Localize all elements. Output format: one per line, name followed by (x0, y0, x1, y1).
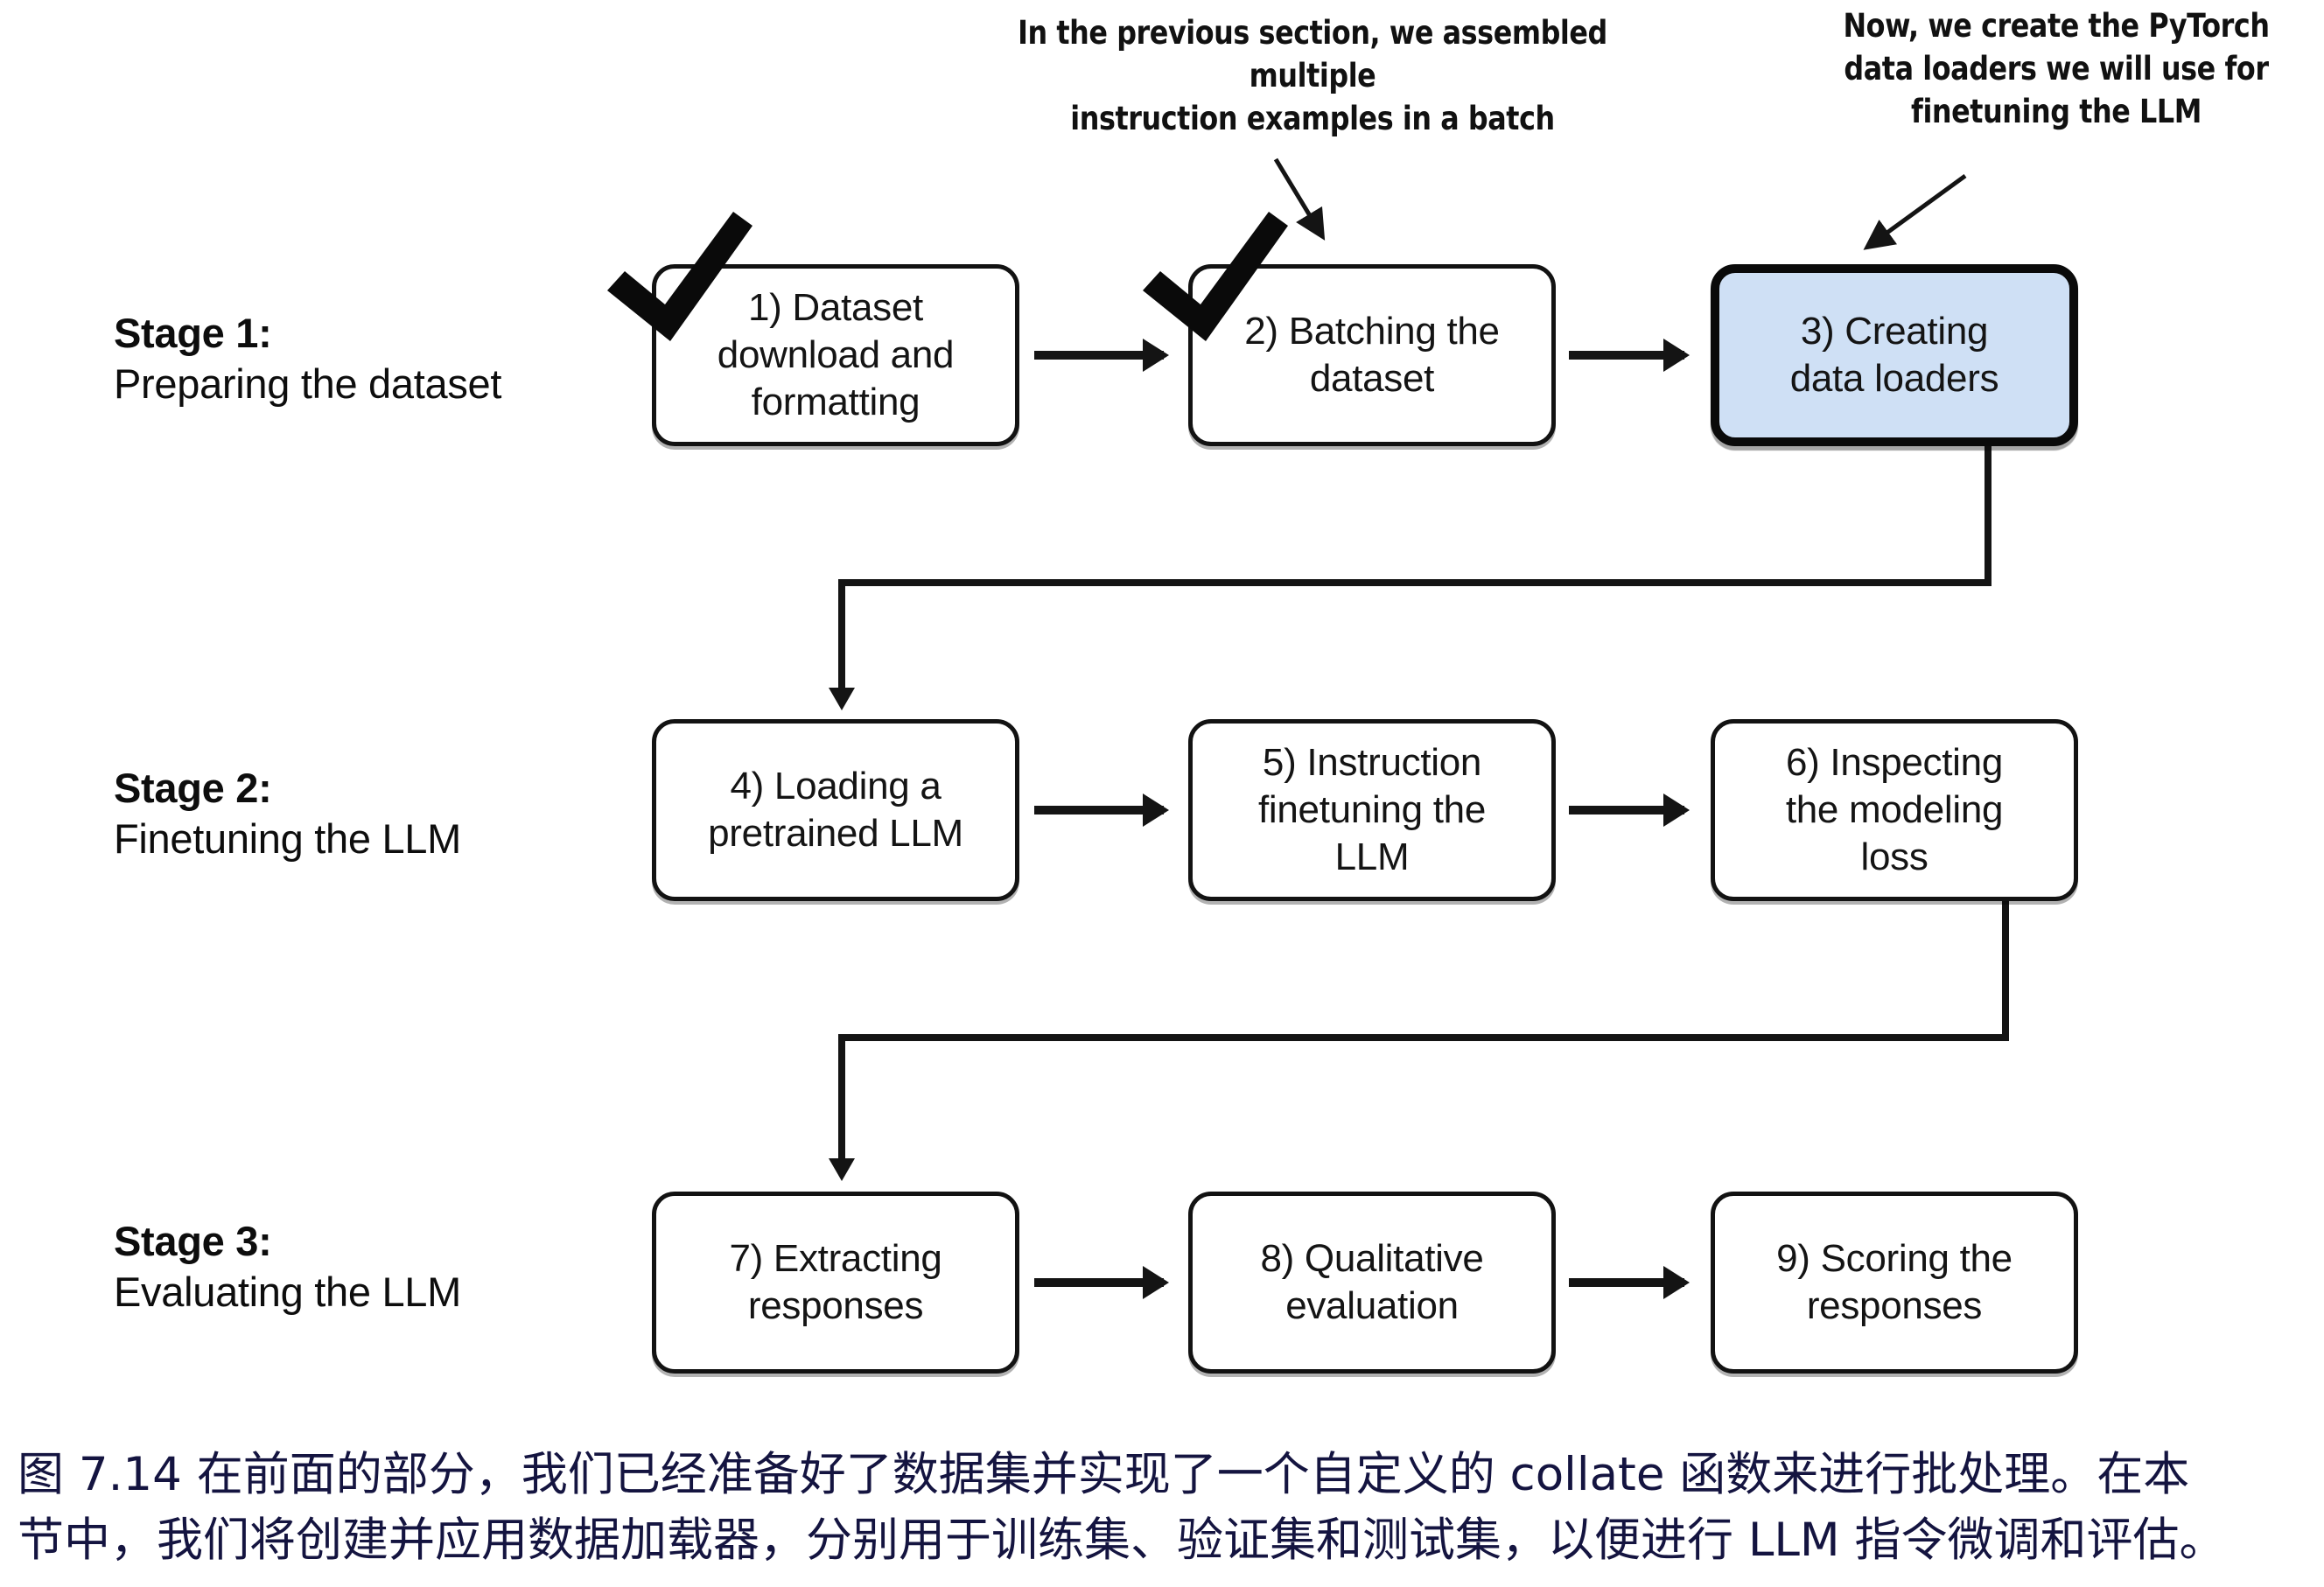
flow-box-5-line-1: 5) Instruction (1258, 739, 1486, 787)
figure-caption-line-2: 节中，我们将创建并应用数据加载器，分别用于训练集、验证集和测试集，以便进行 LL… (17, 1507, 2310, 1573)
arrow-box2-to-box3 (1569, 351, 1684, 360)
stage-1-label: Stage 1: Preparing the dataset (114, 308, 656, 410)
stage-2-subtitle: Finetuning the LLM (114, 813, 656, 864)
flow-box-4-line-2: pretrained LLM (708, 810, 963, 857)
annotation-batching-line-2: instruction examples in a batch (974, 98, 1651, 141)
flow-box-6-line-3: loss (1786, 834, 2003, 881)
flow-box-9-scoring-the-responses[interactable]: 9) Scoring the responses (1711, 1192, 2078, 1374)
flow-box-3-line-2: data loaders (1790, 355, 1999, 402)
flow-box-2-line-1: 2) Batching the (1244, 308, 1499, 355)
arrow-box7-to-box8 (1034, 1278, 1164, 1287)
arrow-box1-to-box2 (1034, 351, 1164, 360)
flow-box-3-creating-data-loaders[interactable]: 3) Creating data loaders (1711, 264, 2078, 446)
annotation-dataloaders-line-2: data loaders we will use for (1823, 48, 2289, 91)
flow-box-9-line-1: 9) Scoring the (1776, 1235, 2012, 1283)
flow-box-1-line-1: 1) Dataset (717, 284, 954, 332)
arrow-box8-to-box9 (1569, 1278, 1684, 1287)
flow-box-5-instruction-finetuning-the-llm[interactable]: 5) Instruction finetuning the LLM (1188, 719, 1556, 901)
flow-box-8-line-2: evaluation (1260, 1283, 1483, 1330)
flow-box-6-line-2: the modeling (1786, 787, 2003, 834)
annotation-dataloaders-note: Now, we create the PyTorch data loaders … (1823, 5, 2289, 133)
flow-box-4-line-1: 4) Loading a (708, 763, 963, 810)
stage-1-title: Stage 1: (114, 308, 656, 358)
stage-3-title: Stage 3: (114, 1216, 656, 1266)
flow-box-8-qualitative-evaluation[interactable]: 8) Qualitative evaluation (1188, 1192, 1556, 1374)
flow-box-7-line-1: 7) Extracting (729, 1235, 941, 1283)
flow-box-9-line-2: responses (1776, 1283, 2012, 1330)
figure-caption: 图 7.14 在前面的部分，我们已经准备好了数据集并实现了一个自定义的 coll… (17, 1442, 2310, 1574)
annotation-dataloaders-line-3: finetuning the LLM (1823, 91, 2289, 134)
arrow-box4-to-box5 (1034, 806, 1164, 814)
flow-box-8-line-1: 8) Qualitative (1260, 1235, 1483, 1283)
annotation-dataloaders-line-1: Now, we create the PyTorch (1823, 5, 2289, 48)
flow-box-4-loading-a-pretrained-llm[interactable]: 4) Loading a pretrained LLM (652, 719, 1019, 901)
stage-3-subtitle: Evaluating the LLM (114, 1266, 656, 1318)
flow-box-7-line-2: responses (729, 1283, 941, 1330)
annotation-batching-line-1: In the previous section, we assembled mu… (974, 12, 1651, 98)
flow-box-6-line-1: 6) Inspecting (1786, 739, 2003, 787)
arrow-box5-to-box6 (1569, 806, 1684, 814)
stage-1-subtitle: Preparing the dataset (114, 358, 656, 409)
stage-2-label: Stage 2: Finetuning the LLM (114, 763, 656, 865)
flow-box-5-line-2: finetuning the (1258, 787, 1486, 834)
flow-box-2-batching-the-dataset[interactable]: 2) Batching the dataset (1188, 264, 1556, 446)
flow-box-1-line-3: formatting (717, 379, 954, 426)
stage-2-title: Stage 2: (114, 763, 656, 813)
flow-box-7-extracting-responses[interactable]: 7) Extracting responses (652, 1192, 1019, 1374)
figure-canvas: In the previous section, we assembled mu… (0, 0, 2324, 1587)
figure-caption-line-1: 图 7.14 在前面的部分，我们已经准备好了数据集并实现了一个自定义的 coll… (17, 1442, 2310, 1507)
annotation-batching-note: In the previous section, we assembled mu… (974, 12, 1651, 140)
flow-box-5-line-3: LLM (1258, 834, 1486, 881)
stage-3-label: Stage 3: Evaluating the LLM (114, 1216, 656, 1318)
annotation-pointer-arrow-batching (1260, 149, 1400, 271)
flow-box-1-line-2: download and (717, 332, 954, 379)
flow-box-3-line-1: 3) Creating (1790, 308, 1999, 355)
flow-box-1-dataset-download-and-formatting[interactable]: 1) Dataset download and formatting (652, 264, 1019, 446)
flow-box-6-inspecting-the-modeling-loss[interactable]: 6) Inspecting the modeling loss (1711, 719, 2078, 901)
flow-box-2-line-2: dataset (1244, 355, 1499, 402)
